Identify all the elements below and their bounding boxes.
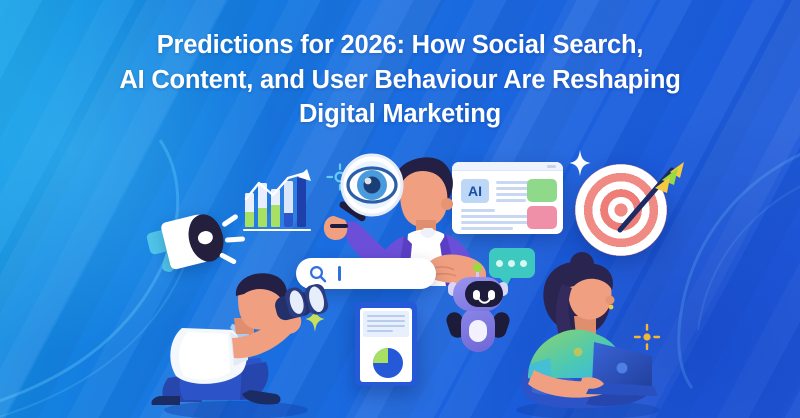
robot-head <box>453 277 503 311</box>
robot-antenna-light <box>473 263 482 272</box>
title-line-1: Predictions for 2026: How Social Search, <box>48 28 752 63</box>
ai-card-textline <box>496 199 526 202</box>
megaphone-wave <box>221 213 239 227</box>
megaphone-wave <box>225 236 245 242</box>
title-line-3: Digital Marketing <box>48 97 752 132</box>
search-caret <box>338 266 341 281</box>
target-arrow <box>600 158 690 238</box>
banner-title: Predictions for 2026: How Social Search,… <box>0 28 800 132</box>
title-line-2: AI Content, and User Behaviour Are Resha… <box>48 63 752 98</box>
blog-banner: Predictions for 2026: How Social Search,… <box>0 0 800 418</box>
document-line <box>367 315 405 317</box>
robot-face <box>465 281 503 307</box>
sparkle-white-icon <box>569 150 591 176</box>
man-with-binoculars <box>136 266 326 418</box>
ai-card-block-pink <box>527 206 557 229</box>
robot-smile <box>478 298 491 305</box>
document-pie-chart <box>355 302 417 386</box>
pie-chart-icon <box>368 344 406 380</box>
illustration: AI <box>0 130 800 418</box>
ai-card-block-green <box>527 179 557 202</box>
woman-with-laptop <box>500 254 670 418</box>
document-line <box>367 320 405 322</box>
document-line <box>367 325 405 327</box>
megaphone-wave <box>219 252 237 265</box>
robot-badge <box>469 320 487 342</box>
document-line <box>367 330 393 332</box>
